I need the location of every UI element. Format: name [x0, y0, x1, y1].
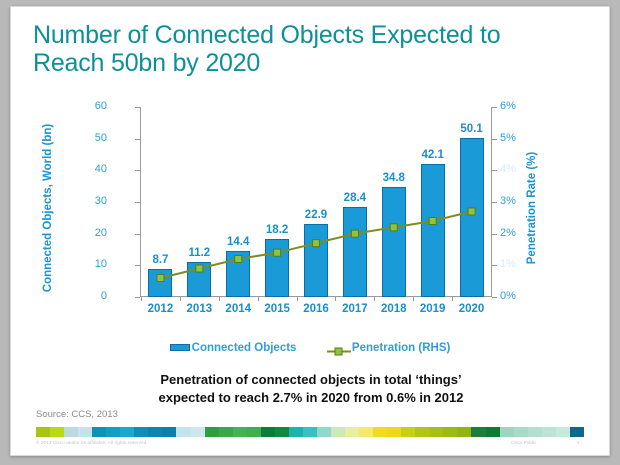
- x-tick: [219, 297, 220, 301]
- x-tick: [141, 297, 142, 301]
- footer-bar-segment: [162, 427, 176, 437]
- legend-label-bars: Connected Objects: [192, 342, 297, 354]
- y-axis-left-title: Connected Objects, World (bn): [42, 108, 54, 308]
- footer-bar-segment: [345, 427, 359, 437]
- legend-bar-swatch-icon: [170, 344, 190, 351]
- footer-bar-segment: [514, 427, 528, 437]
- x-tick-label: 2020: [450, 303, 494, 315]
- line-marker: [235, 256, 242, 263]
- x-tick-label: 2018: [372, 303, 416, 315]
- y-tick-left: [135, 107, 140, 108]
- footer-color-bar: [36, 427, 584, 437]
- cisco-public-label: Cisco Public: [511, 440, 536, 445]
- y-tick-left: [135, 139, 140, 140]
- footer-bar-segment: [78, 427, 92, 437]
- footer-bar-segment: [148, 427, 162, 437]
- footer-bar-segment: [570, 427, 584, 437]
- y-tick-left: [135, 234, 140, 235]
- footer-bar-segment: [289, 427, 303, 437]
- line-series: [141, 107, 491, 297]
- line-marker: [196, 265, 203, 272]
- footer-bar-segment: [387, 427, 401, 437]
- y-tick-label-left: 10: [77, 258, 107, 270]
- slide: Number of Connected Objects Expected to …: [10, 6, 610, 456]
- line-marker: [157, 275, 164, 282]
- footer-bar-segment: [120, 427, 134, 437]
- footer-bar-segment: [429, 427, 443, 437]
- y-tick-right: [492, 170, 497, 171]
- y-tick-label-right: 0%: [500, 290, 530, 302]
- footer-bar-segment: [247, 427, 261, 437]
- footer-bar-segment: [303, 427, 317, 437]
- footer-bar-segment: [275, 427, 289, 437]
- footer-bar-segment: [106, 427, 120, 437]
- footer-bar-segment: [233, 427, 247, 437]
- x-tick-label: 2014: [216, 303, 260, 315]
- page-title: Number of Connected Objects Expected to …: [33, 21, 593, 77]
- footer-bar-segment: [500, 427, 514, 437]
- line-marker: [390, 224, 397, 231]
- footer-bar-segment: [471, 427, 485, 437]
- y-tick-left: [135, 297, 140, 298]
- line-marker: [274, 249, 281, 256]
- footer-bar-segment: [401, 427, 415, 437]
- y-tick-label-right: 4%: [500, 163, 530, 175]
- x-tick: [258, 297, 259, 301]
- legend-item-line: Penetration (RHS): [327, 339, 450, 357]
- y-tick-label-left: 40: [77, 163, 107, 175]
- x-tick-label: 2017: [333, 303, 377, 315]
- y-tick-right: [492, 202, 497, 203]
- y-tick-right: [492, 297, 497, 298]
- y-tick-label-left: 50: [77, 132, 107, 144]
- footer-bar-segment: [205, 427, 219, 437]
- footer-bar-segment: [486, 427, 500, 437]
- x-tick-label: 2016: [294, 303, 338, 315]
- y-tick-right: [492, 234, 497, 235]
- footer-bar-segment: [556, 427, 570, 437]
- footer-bar-segment: [176, 427, 190, 437]
- y-tick-label-right: 2%: [500, 227, 530, 239]
- legend-label-line: Penetration (RHS): [352, 342, 450, 354]
- x-tick: [180, 297, 181, 301]
- y-tick-label-left: 30: [77, 195, 107, 207]
- footer-bar-segment: [261, 427, 275, 437]
- y-tick-label-right: 6%: [500, 100, 530, 112]
- line-marker: [468, 208, 475, 215]
- y-tick-label-right: 3%: [500, 195, 530, 207]
- footer-bar-segment: [443, 427, 457, 437]
- footer-bar-segment: [359, 427, 373, 437]
- footer-bar-segment: [219, 427, 233, 437]
- x-tick-label: 2019: [411, 303, 455, 315]
- x-tick: [452, 297, 453, 301]
- x-tick: [374, 297, 375, 301]
- y-tick-label-right: 1%: [500, 258, 530, 270]
- footer-bar-segment: [36, 427, 50, 437]
- source-note: Source: CCS, 2013: [36, 409, 118, 420]
- chart-legend: Connected Objects Penetration (RHS): [11, 339, 609, 357]
- legend-line-swatch-icon: [327, 343, 351, 352]
- chart-caption: Penetration of connected objects in tota…: [71, 371, 551, 407]
- footer-bar-segment: [542, 427, 556, 437]
- y-tick-left: [135, 202, 140, 203]
- line-marker: [313, 240, 320, 247]
- footer-bar-segment: [64, 427, 78, 437]
- x-tick-label: 2012: [138, 303, 182, 315]
- copyright-text: © 2013 Cisco and/or its affiliates. All …: [36, 440, 148, 445]
- footer-bar-segment: [373, 427, 387, 437]
- footer-bar-segment: [457, 427, 471, 437]
- footer-bar-segment: [317, 427, 331, 437]
- footer-bar-segment: [50, 427, 64, 437]
- footer-bar-segment: [134, 427, 148, 437]
- x-tick: [335, 297, 336, 301]
- x-tick-label: 2013: [177, 303, 221, 315]
- x-tick-label: 2015: [255, 303, 299, 315]
- x-tick: [297, 297, 298, 301]
- y-tick-right: [492, 265, 497, 266]
- y-tick-label-left: 0: [77, 290, 107, 302]
- y-tick-right: [492, 107, 497, 108]
- y-tick-right: [492, 139, 497, 140]
- y-tick-label-right: 5%: [500, 132, 530, 144]
- y-tick-left: [135, 170, 140, 171]
- line-marker: [429, 218, 436, 225]
- page-number: 4: [577, 440, 580, 445]
- x-tick: [413, 297, 414, 301]
- y-tick-label-left: 60: [77, 100, 107, 112]
- footer-bar-segment: [331, 427, 345, 437]
- footer-bar-segment: [191, 427, 205, 437]
- footer-bar-segment: [92, 427, 106, 437]
- footer-bar-segment: [528, 427, 542, 437]
- footer-bar-segment: [415, 427, 429, 437]
- legend-item-bars: Connected Objects: [170, 339, 297, 357]
- y-tick-label-left: 20: [77, 227, 107, 239]
- line-marker: [351, 230, 358, 237]
- chart: Connected Objects, World (bn) Penetratio…: [11, 99, 609, 349]
